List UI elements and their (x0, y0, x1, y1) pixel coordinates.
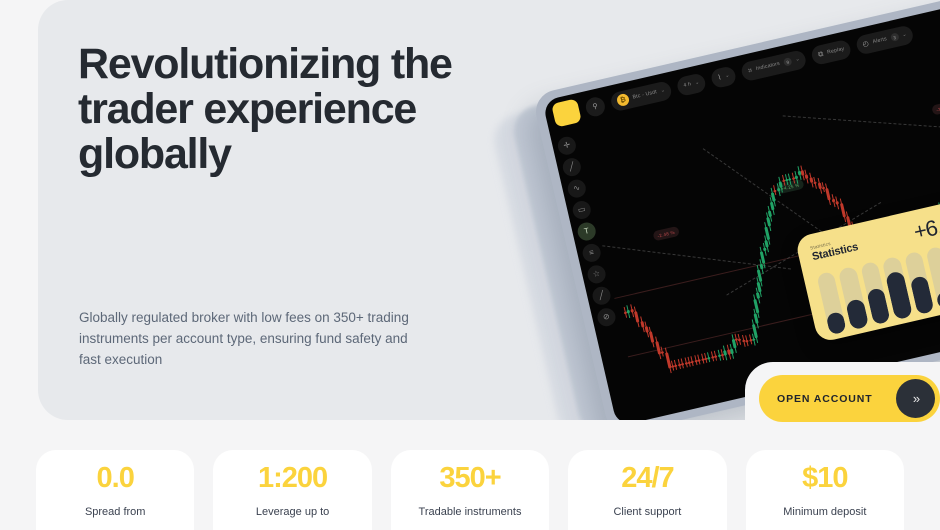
candle (634, 311, 639, 322)
stat-bar-fill (866, 288, 891, 326)
cta-container: OPEN ACCOUNT » (745, 362, 940, 422)
alarm-clock-icon: ◴ (862, 40, 870, 48)
toolbar-item-label: Indicators (755, 61, 780, 72)
stat-label: Leverage up to (256, 506, 329, 518)
trading-platform-screen: ⚲ ₿ Btc - Usdt ⌄ 4 h ⌄ (542, 0, 940, 420)
hero-description: Globally regulated broker with low fees … (79, 307, 409, 370)
chevron-down-icon: ⌄ (660, 87, 666, 94)
stat-bar-fill (909, 275, 934, 315)
stat-label: Minimum deposit (783, 506, 866, 518)
cta-label: OPEN ACCOUNT (777, 393, 873, 405)
crosshair-tool[interactable]: ✛ (556, 135, 578, 157)
toolbar-item-label: Replay (827, 46, 845, 56)
stat-value: 24/7 (621, 464, 673, 493)
candle (759, 264, 763, 269)
stats-row: 0.0Spread from1:200Leverage up to350+Tra… (36, 450, 904, 530)
symbol-label: Btc - Usdt (632, 89, 657, 100)
candle (661, 351, 664, 354)
chevron-down-icon: ⌄ (725, 72, 731, 79)
price-label: -3.61 % (931, 100, 940, 116)
candle (738, 339, 741, 342)
trendline-tool[interactable]: ╱ (561, 156, 583, 178)
candle (805, 174, 809, 179)
candle (814, 181, 818, 184)
hero-card: Revolutionizing the trader experience gl… (38, 0, 940, 420)
stat-bar-fill (826, 311, 848, 335)
stat-card: 0.0Spread from (36, 450, 194, 530)
stat-value: $10 (802, 464, 847, 493)
timeframe-selector[interactable]: 4 h ⌄ (676, 72, 708, 97)
search-icon[interactable]: ⚲ (584, 95, 607, 118)
status-badge: 3 (890, 32, 900, 42)
candle (730, 348, 734, 354)
stat-card: 350+Tradable instruments (391, 450, 549, 530)
device-mockup: ⚲ ₿ Btc - Usdt ⌄ 4 h ⌄ (493, 0, 940, 420)
brush-tool[interactable]: ╱ (591, 285, 613, 307)
platform-logo (551, 98, 582, 127)
favorite-tool[interactable]: ☆ (586, 264, 608, 286)
stat-card: 1:200Leverage up to (213, 450, 371, 530)
toolbar-item-alerts[interactable]: ◴ Alerts 3 ⌄ (855, 24, 915, 55)
landing-page: Revolutionizing the trader experience gl… (0, 0, 940, 530)
chevron-down-icon: ⌄ (902, 31, 908, 38)
toolbar-item-label: Alerts (872, 36, 887, 45)
open-account-button[interactable]: OPEN ACCOUNT » (759, 375, 940, 422)
candle (649, 331, 655, 343)
candle (763, 248, 767, 251)
candle (836, 201, 839, 204)
chart-type-selector[interactable]: ⌇ ⌄ (710, 65, 738, 89)
candle (840, 203, 846, 218)
hide-tool[interactable]: ⊘ (596, 306, 618, 328)
stat-bar-fill (846, 299, 869, 331)
double-chevron-right-icon: » (896, 379, 935, 418)
stat-value: 0.0 (97, 464, 134, 493)
text-tool[interactable]: T (576, 221, 598, 243)
chevron-down-icon: ⌄ (795, 56, 801, 63)
stat-card: 24/7Client support (568, 450, 726, 530)
toolbar-item-replay[interactable]: ⧉ Replay (810, 38, 852, 65)
stat-label: Client support (613, 506, 681, 518)
candle (795, 175, 799, 178)
page-title: Revolutionizing the trader experience gl… (78, 42, 548, 177)
stat-value: 1:200 (258, 464, 327, 493)
status-badge: 9 (783, 57, 793, 67)
stat-bar-fill (935, 289, 940, 310)
price-label: -2.48 % (652, 226, 679, 242)
timeframe-label: 4 h (683, 81, 692, 89)
stat-card: $10Minimum deposit (746, 450, 904, 530)
stat-value: 350+ (439, 464, 500, 493)
tablet-device: ⚲ ₿ Btc - Usdt ⌄ 4 h ⌄ (532, 0, 940, 420)
measure-tool[interactable]: ≡ (581, 242, 603, 264)
wave-tool[interactable]: ∿ (566, 178, 588, 200)
statistics-percent: +6,21% (912, 207, 940, 244)
indicators-icon: ⌗ (747, 67, 753, 75)
chevron-down-icon: ⌄ (694, 79, 700, 86)
candle (825, 188, 831, 201)
candle (752, 338, 755, 341)
replay-icon: ⧉ (818, 50, 825, 58)
stat-label: Tradable instruments (419, 506, 522, 518)
rectangle-tool[interactable]: ▭ (571, 199, 593, 221)
candlestick-icon: ⌇ (717, 74, 722, 82)
bitcoin-icon: ₿ (616, 93, 630, 107)
stat-label: Spread from (85, 506, 146, 518)
